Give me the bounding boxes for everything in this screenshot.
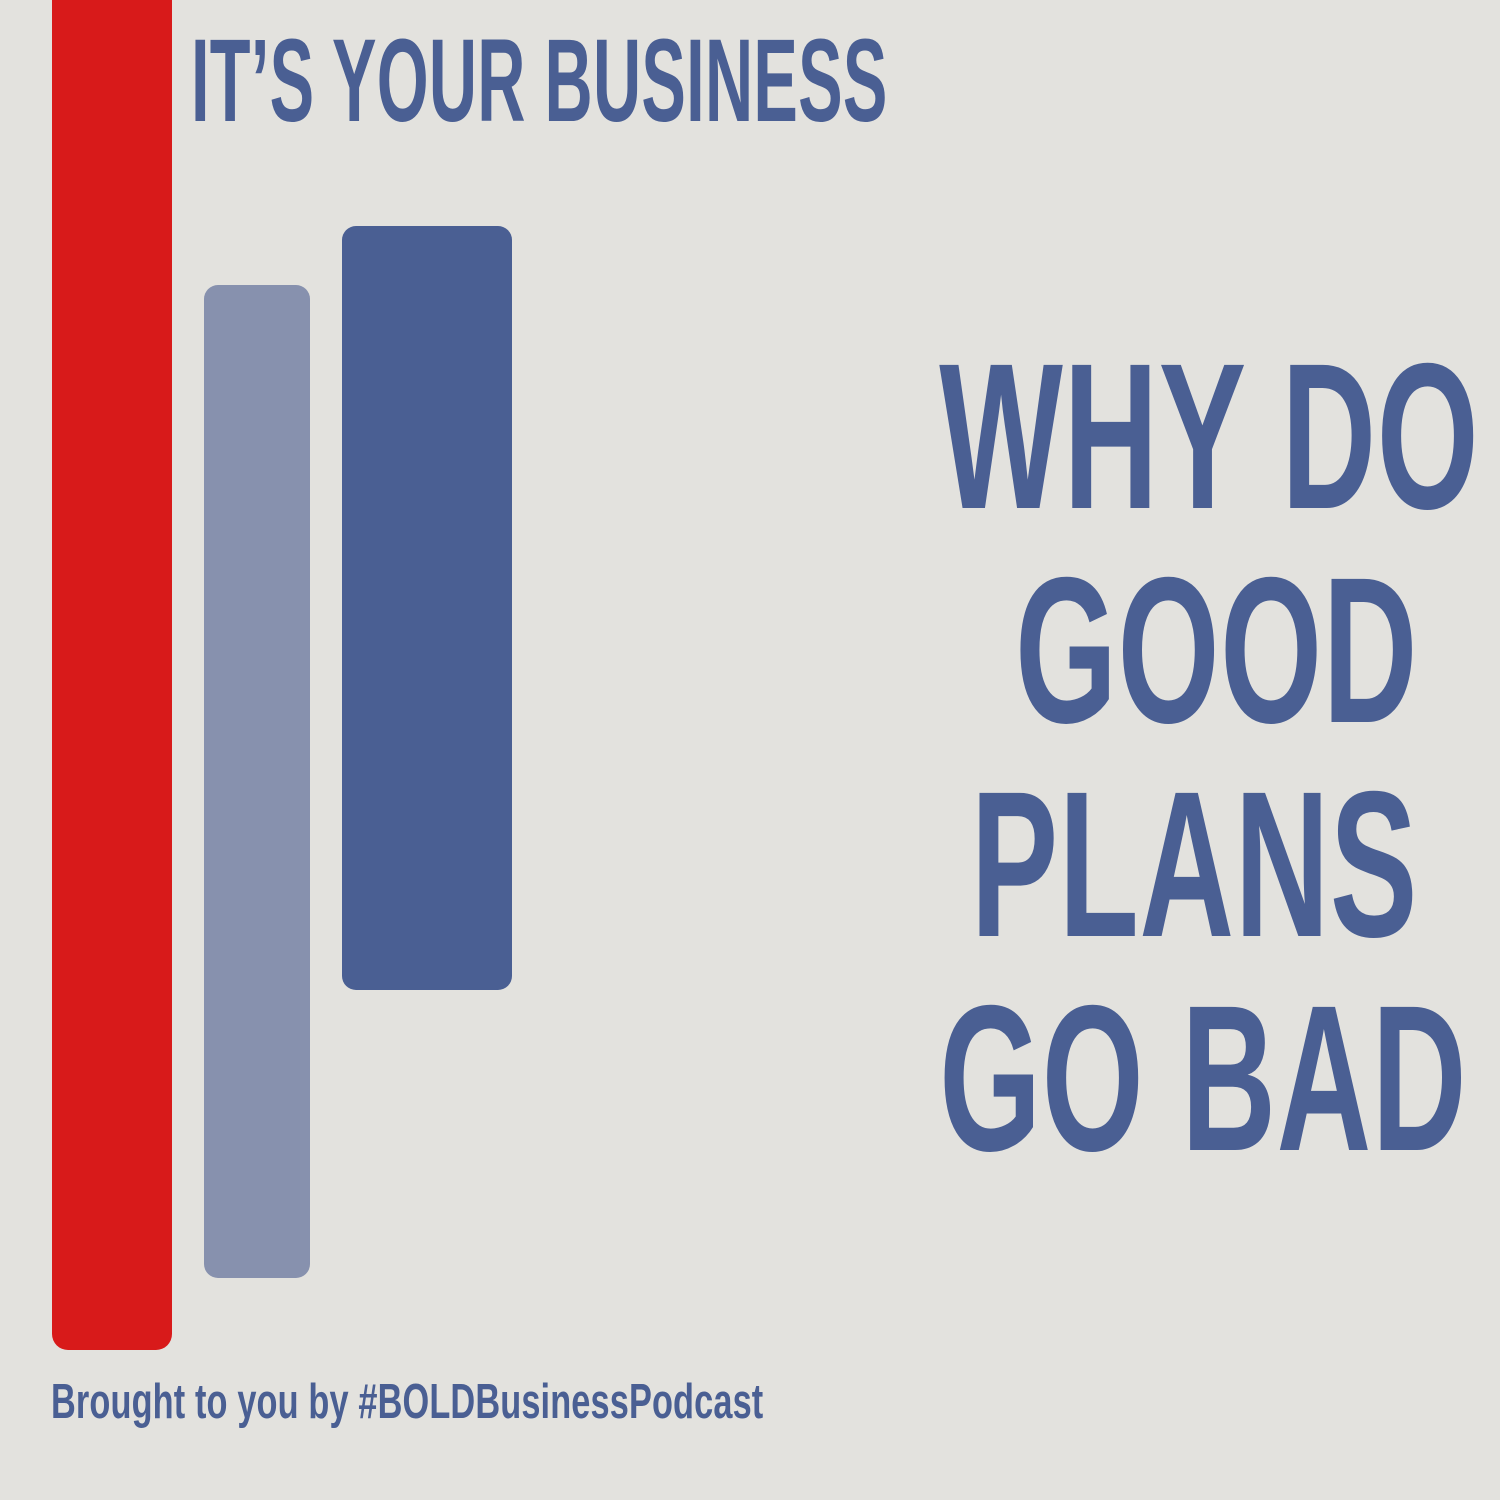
episode-headline: WHY DO GOOD PLANS GO BAD (658, 330, 1418, 1186)
accent-stripe (52, 0, 172, 1350)
chart-bar-light (204, 285, 310, 1278)
footer-credit: Brought to you by #BOLDBusinessPodcast (51, 1378, 763, 1427)
headline-line-1: WHY DO (939, 330, 1418, 544)
chart-bar-dark (342, 226, 512, 990)
headline-line-4: GO BAD (939, 972, 1418, 1186)
show-title: IT’S YOUR BUSINESS (191, 22, 700, 140)
headline-line-2: GOOD (939, 544, 1418, 758)
podcast-cover-artwork: IT’S YOUR BUSINESS WHY DO GOOD PLANS GO … (0, 0, 1500, 1500)
headline-line-3: PLANS (939, 758, 1418, 972)
